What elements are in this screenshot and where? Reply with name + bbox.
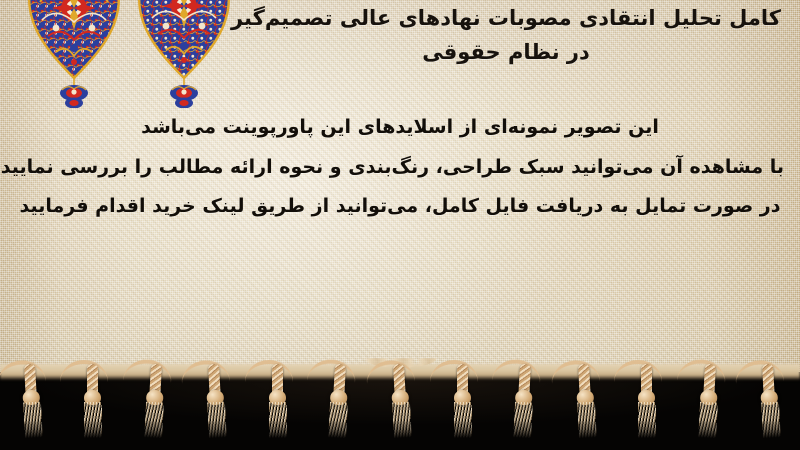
fringe-tassel xyxy=(139,359,169,444)
fringe-brush xyxy=(761,401,781,438)
fringe-tassel xyxy=(385,359,415,444)
fringe-tassel xyxy=(633,360,659,444)
fringe-arc xyxy=(60,360,108,382)
fringe-tassel xyxy=(79,360,105,444)
fringe-arc xyxy=(735,359,784,383)
fringe-brush xyxy=(329,402,349,439)
fringe-arc xyxy=(245,360,293,382)
slide-body-line-2: با مشاهده آن می‌توانید سبک طراحی، رنگ‌بن… xyxy=(16,148,784,188)
fringe-arc xyxy=(0,359,46,383)
carpet-fringe-tassels xyxy=(0,360,800,450)
fringe-arc xyxy=(550,359,599,383)
fringe-brush xyxy=(269,402,287,438)
fringe-brush xyxy=(392,401,412,438)
fringe-arc xyxy=(492,358,541,382)
fringe-brush xyxy=(577,401,597,438)
fringe-brush xyxy=(23,401,43,438)
fringe-tassel xyxy=(508,359,538,444)
fringe-brush xyxy=(207,401,227,438)
slide-body-line-1: این تصویر نمونه‌ای از اسلایدهای این پاور… xyxy=(16,108,784,148)
fringe-tassel xyxy=(264,360,290,444)
slide-title: کامل تحلیل انتقادی مصوبات نهادهای عالی ت… xyxy=(226,2,786,69)
fringe-brush xyxy=(454,402,472,438)
fringe-brush xyxy=(513,402,533,439)
fringe-tassel xyxy=(754,359,784,444)
fringe-brush xyxy=(638,402,656,438)
fringe-arc xyxy=(677,358,726,382)
slide-title-line-1: کامل تحلیل انتقادی مصوبات نهادهای عالی ت… xyxy=(231,6,781,30)
fringe-tassel xyxy=(693,359,723,444)
presentation-slide: کامل تحلیل انتقادی مصوبات نهادهای عالی ت… xyxy=(0,0,800,450)
fringe-brush xyxy=(144,402,164,439)
fringe-arc xyxy=(123,358,172,382)
slide-body: این تصویر نمونه‌ای از اسلایدهای این پاور… xyxy=(16,108,784,227)
fringe-tassel xyxy=(200,359,230,444)
persian-illumination-medallion-right xyxy=(132,0,236,108)
fringe-tassel xyxy=(16,359,46,444)
fringe-arc xyxy=(614,360,662,382)
slide-body-line-3: در صورت تمایل به دریافت فایل کامل، می‌تو… xyxy=(16,187,784,227)
fringe-arc xyxy=(430,360,478,382)
persian-illumination-medallion-left xyxy=(22,0,126,108)
fringe-brush xyxy=(698,402,718,439)
fringe-brush xyxy=(84,402,102,438)
fringe-tassel xyxy=(323,359,353,444)
fringe-arc xyxy=(308,358,357,382)
fringe-tassel xyxy=(449,360,475,444)
fringe-arc xyxy=(181,359,230,383)
fringe-arc xyxy=(366,359,415,383)
slide-title-line-2: در نظام حقوقی xyxy=(422,40,590,64)
fringe-tassel xyxy=(569,359,599,444)
